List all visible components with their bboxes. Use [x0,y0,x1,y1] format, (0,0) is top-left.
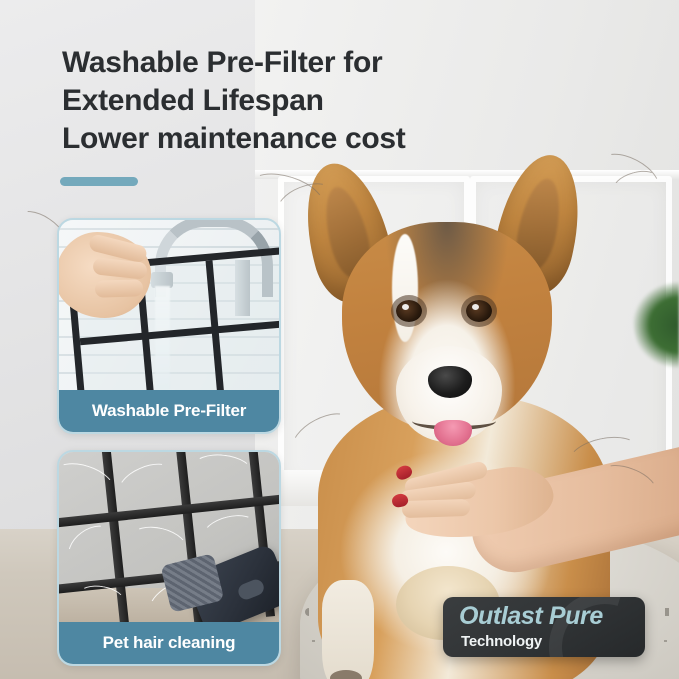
brand-badge: Outlast Pure Technology [443,597,645,657]
dog-leg [322,580,374,679]
headline: Washable Pre-Filter for Extended Lifespa… [62,44,532,157]
headline-line-3: Lower maintenance cost [62,120,532,158]
feature-card-washable-prefilter: Washable Pre-Filter [57,218,281,434]
brand-title: Outlast Pure [459,602,603,631]
card-photo-pet-hair-cleaning [59,452,279,622]
dog-blaze [392,234,418,342]
headline-line-2: Extended Lifespan [62,82,532,120]
headline-line-1: Washable Pre-Filter for [62,44,532,82]
dog-eye-left [396,300,422,322]
dog-eye-right [466,300,492,322]
brush-button [236,577,266,602]
card-caption-washable-prefilter: Washable Pre-Filter [59,390,279,432]
accent-bar [60,177,138,186]
dog-toe [330,670,362,679]
product-feature-image: Washable Pre-Filter for Extended Lifespa… [0,0,679,679]
card-photo-washable-prefilter [59,220,279,390]
card-caption-pet-hair-cleaning: Pet hair cleaning [59,622,279,664]
brand-subtitle: Technology [461,633,542,650]
feature-card-pet-hair-cleaning: Pet hair cleaning [57,450,281,666]
finger [402,499,471,518]
hand-holding-filter [59,232,151,318]
